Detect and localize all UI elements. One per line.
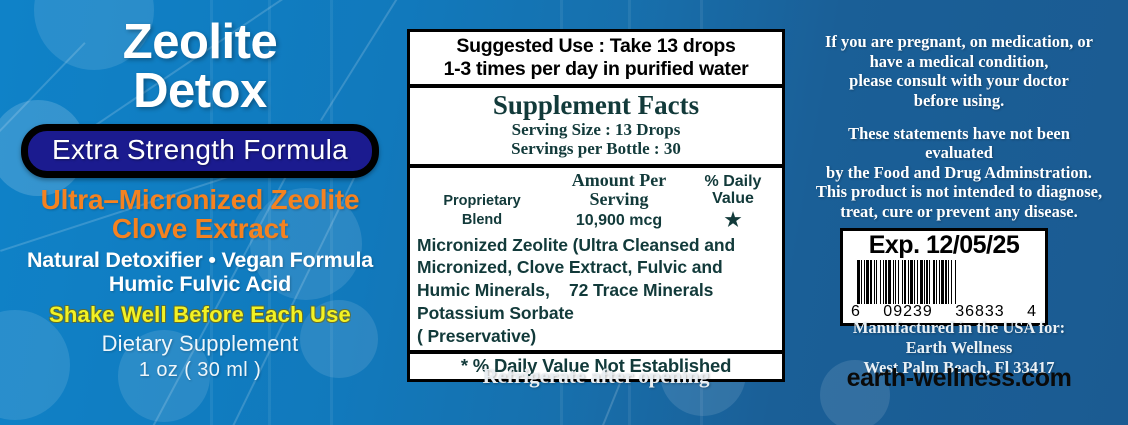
suggested-use-block: Suggested Use : Take 13 drops 1-3 times … (410, 32, 782, 88)
net-volume: 1 oz ( 30 ml ) (139, 359, 261, 382)
extra-strength-badge-wrap: Extra Strength Formula (21, 124, 379, 178)
amount-value: 10,900 mcg (548, 212, 690, 230)
nutrient-row: Proprietary Blend Amount Per Serving 10,… (410, 168, 782, 232)
supplement-facts-panel: Suggested Use : Take 13 drops 1-3 times … (407, 29, 785, 382)
servings-per-bottle: Servings per Bottle : 30 (414, 139, 778, 158)
daily-value-header-line-1: % Daily (690, 173, 776, 191)
info-panel: If you are pregnant, on medication, or h… (790, 0, 1128, 425)
product-title-line1: Zeolite (123, 18, 277, 67)
manufacturer-line-2: Earth Wellness (790, 338, 1128, 358)
amount-header-line-2: Serving (548, 190, 690, 209)
product-category: Dietary Supplement (102, 331, 299, 357)
expiration-date: Exp. 12/05/25 (849, 232, 1039, 259)
website-url[interactable]: earth-wellness.com (790, 364, 1128, 393)
barcode-block: Exp. 12/05/25 6 09239 36833 4 (840, 228, 1048, 326)
disclaimer-line-2: evaluated (790, 143, 1128, 163)
disclaimer-line-1: These statements have not been (790, 124, 1128, 144)
highlight-ingredient-1: Ultra–Micronized Zeolite (41, 185, 360, 214)
warning-block: If you are pregnant, on medication, or h… (790, 0, 1128, 111)
warning-line-3: please consult with your doctor (790, 71, 1128, 91)
disclaimer-line-3: by the Food and Drug Adminstration. (790, 163, 1128, 183)
ingredients-line-3a: Humic Minerals, (417, 279, 569, 302)
ingredients-line-3: Humic Minerals, 72 Trace Minerals (417, 279, 775, 302)
barcode-bars (849, 260, 1039, 304)
daily-value-cell: % Daily Value ★ (690, 173, 776, 230)
supplement-facts-body: Proprietary Blend Amount Per Serving 10,… (410, 168, 782, 351)
shake-notice: Shake Well Before Each Use (49, 302, 351, 328)
daily-value-asterisk: ★ (690, 211, 776, 230)
disclaimer-line-4: This product is not intended to diagnose… (790, 182, 1128, 202)
product-label: Zeolite Detox Extra Strength Formula Ult… (0, 0, 1128, 425)
daily-value-header-line-2: Value (690, 190, 776, 208)
blend-name-line-2: Blend (416, 211, 548, 229)
refrigerate-notice: Refrigerate after opening (407, 364, 785, 389)
ingredients-line-2: Micronized, Clove Extract, Fulvic and (417, 256, 775, 279)
supplement-facts-title: Supplement Facts (414, 91, 778, 120)
suggested-use-line-1: Suggested Use : Take 13 drops (414, 35, 778, 58)
blend-name-cell: Proprietary Blend (416, 192, 548, 229)
extra-strength-badge: Extra Strength Formula (21, 124, 379, 178)
benefit-line-1: Natural Detoxifier • Vegan Formula (27, 248, 373, 272)
warning-line-2: have a medical condition, (790, 52, 1128, 72)
disclaimer-line-5: treat, cure or prevent any disease. (790, 202, 1128, 222)
warning-line-4: before using. (790, 91, 1128, 111)
serving-size: Serving Size : 13 Drops (414, 120, 778, 139)
ingredients-list: Micronized Zeolite (Ultra Cleansed and M… (410, 232, 782, 351)
ingredients-line-3b: 72 Trace Minerals (569, 279, 713, 302)
amount-cell: Amount Per Serving 10,900 mcg (548, 171, 690, 230)
supplement-facts-header: Supplement Facts Serving Size : 13 Drops… (410, 88, 782, 167)
product-title-line2: Detox (123, 67, 277, 116)
fda-disclaimer-block: These statements have not been evaluated… (790, 111, 1128, 222)
front-panel: Zeolite Detox Extra Strength Formula Ult… (0, 0, 400, 425)
benefit-line-2: Humic Fulvic Acid (109, 272, 291, 296)
suggested-use-line-2: 1-3 times per day in purified water (414, 58, 778, 81)
ingredients-line-4: Potassium Sorbate (417, 302, 775, 325)
highlight-ingredient-2: Clove Extract (112, 214, 288, 243)
product-title: Zeolite Detox (123, 18, 277, 115)
manufacturer-line-1: Manufactured in the USA for: (790, 318, 1128, 338)
warning-line-1: If you are pregnant, on medication, or (790, 32, 1128, 52)
ingredients-line-1: Micronized Zeolite (Ultra Cleansed and (417, 234, 775, 257)
amount-header-line-1: Amount Per (548, 171, 690, 190)
ingredients-line-5: ( Preservative) (417, 325, 775, 348)
extra-strength-badge-label: Extra Strength Formula (52, 134, 348, 165)
blend-name-line-1: Proprietary (416, 192, 548, 210)
